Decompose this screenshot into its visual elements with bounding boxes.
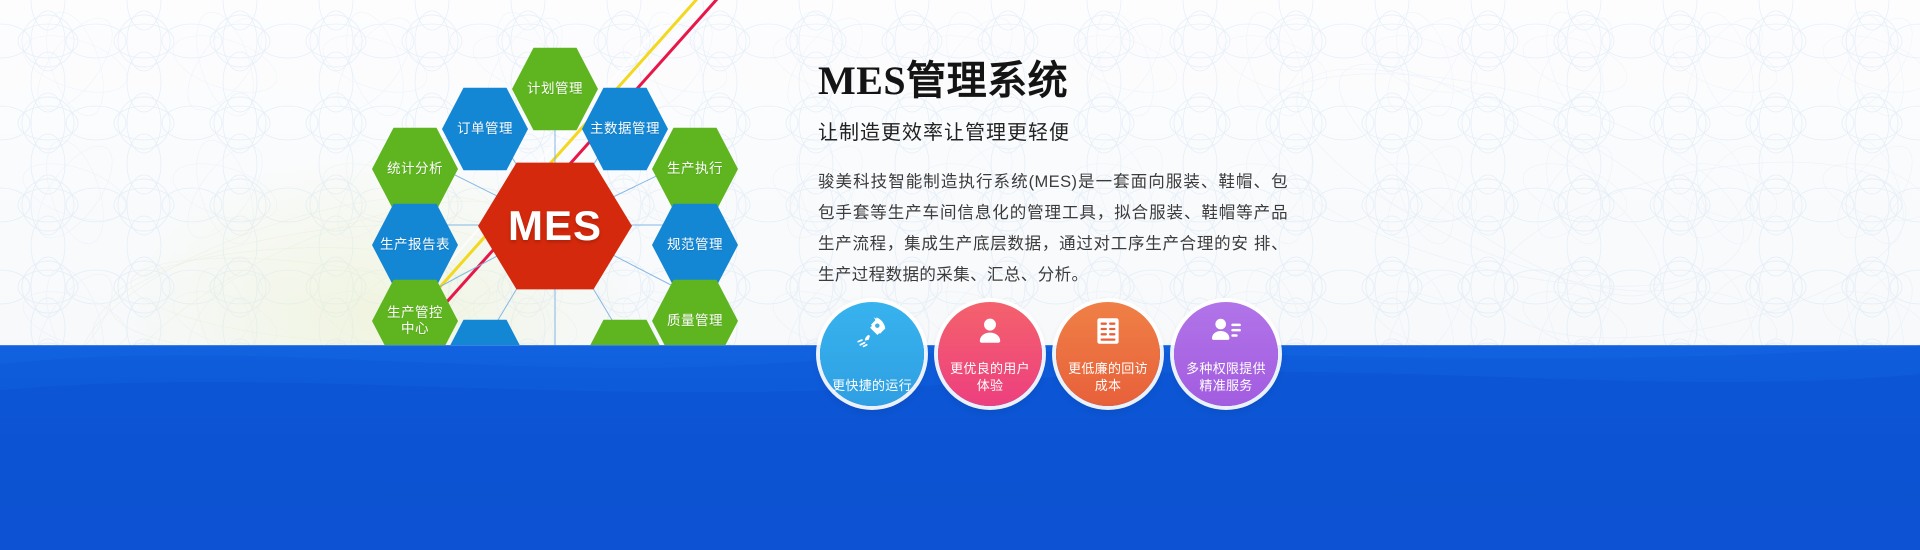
feature-badge-lower-revisit-cost[interactable]: 更低廉的回访 成本 xyxy=(1056,302,1160,406)
center-label: MES xyxy=(502,202,608,250)
hex-label: 规范管理 xyxy=(661,237,729,253)
mes-promo-banner: 计划管理 订单管理 主数据管理 统计分析 生产执行 生产报告表 规范管理 生产管… xyxy=(0,0,1920,550)
banner-text-content: MES管理系统 让制造更效率让管理更轻便 骏美科技智能制造执行系统(MES)是一… xyxy=(818,48,1288,291)
page-subtitle: 让制造更效率让管理更轻便 xyxy=(818,116,1288,145)
hex-label: 主数据管理 xyxy=(584,121,666,137)
hex-label: 统计分析 xyxy=(381,161,449,177)
feature-badge-permission-precision-service[interactable]: 多种权限提供 精准服务 xyxy=(1174,302,1278,406)
badge-label: 多种权限提供 精准服务 xyxy=(1180,360,1272,406)
document-icon xyxy=(1091,314,1125,348)
hex-label: 生产执行 xyxy=(661,161,729,177)
badge-label: 更快捷的运行 xyxy=(826,377,918,406)
hex-label: 计划管理 xyxy=(521,81,589,97)
page-title: MES管理系统 xyxy=(818,48,1288,106)
page-description: 骏美科技智能制造执行系统(MES)是一套面向服装、鞋帽、包包手套等生产车间信息化… xyxy=(818,167,1288,291)
user-icon xyxy=(973,314,1007,348)
feature-badge-group: 更快捷的运行 更优良的用户 体验 xyxy=(820,302,1278,406)
badge-label: 更优良的用户 体验 xyxy=(944,360,1036,406)
hex-label: 生产报告表 xyxy=(374,237,456,253)
feature-badge-faster-operation[interactable]: 更快捷的运行 xyxy=(820,302,924,406)
rocket-icon xyxy=(855,314,889,348)
hex-label: 订单管理 xyxy=(451,121,519,137)
user-card-icon xyxy=(1209,314,1243,348)
badge-label: 更低廉的回访 成本 xyxy=(1062,360,1154,406)
feature-badge-better-user-experience[interactable]: 更优良的用户 体验 xyxy=(938,302,1042,406)
